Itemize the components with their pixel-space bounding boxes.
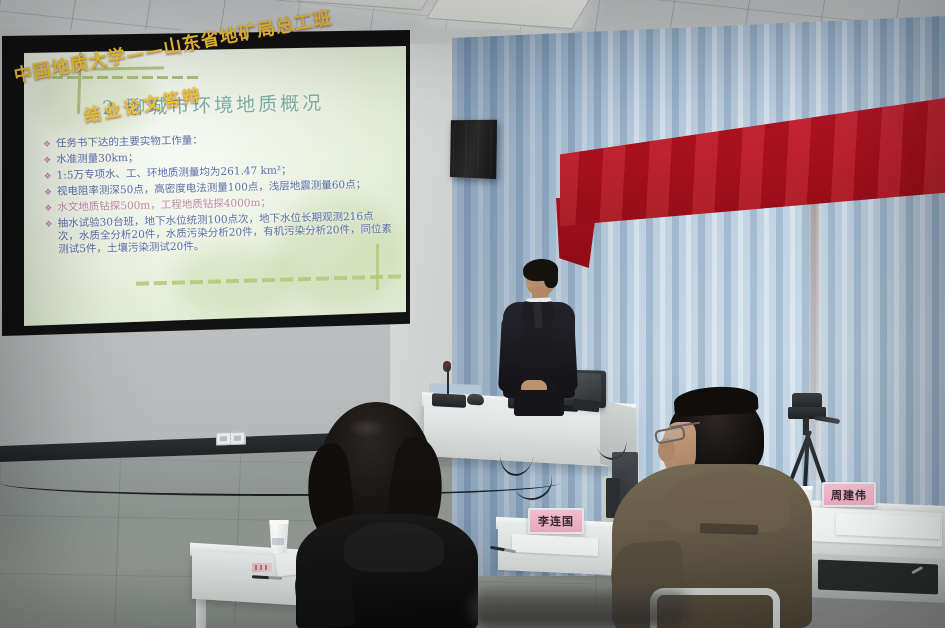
documents-sheet <box>836 513 940 540</box>
woman-hair-highlight <box>348 418 386 438</box>
presenter-arm-right <box>552 313 578 392</box>
presenter-legs <box>514 390 564 416</box>
slide-bullet-list: ❖ 任务书下达的主要实物工作量： ❖ 水准测量30km； ❖ 1:5万专项水、工… <box>43 130 396 259</box>
projection-screen: 2 聊城市环境地质概况 ❖ 任务书下达的主要实物工作量： ❖ 水准测量30km；… <box>24 46 406 326</box>
presentation-room-photo: 2 聊城市环境地质概况 ❖ 任务书下达的主要实物工作量： ❖ 水准测量30km；… <box>0 0 945 628</box>
presenter-person <box>492 262 584 410</box>
slide-bullet-text: 任务书下达的主要实物工作量： <box>56 134 203 150</box>
name-plate: 周建伟 <box>822 482 876 507</box>
bullet-diamond-icon: ❖ <box>43 138 51 152</box>
slide-bullet-text: 水文地质钻探500m，工程地质钻探4000m； <box>57 197 271 215</box>
slide-bullet-item: ❖ 抽水试验30台班，地下水位统测100点次，地下水位长期观测216点次，水质全… <box>44 210 395 257</box>
man-shoulders <box>666 470 790 532</box>
bullet-diamond-icon: ❖ <box>43 170 51 184</box>
name-plate-text: 周建伟 <box>831 487 867 503</box>
sticky-note <box>252 563 272 572</box>
man-jacket-seam <box>700 523 758 535</box>
slide-bullet-text: 水准测量30km； <box>56 152 138 167</box>
left-desk-leg <box>196 596 206 628</box>
woman-shoulders <box>344 522 444 572</box>
presenter-hair-side <box>544 266 558 288</box>
bullet-diamond-icon: ❖ <box>44 202 52 216</box>
bullet-diamond-icon: ❖ <box>44 186 52 200</box>
name-plate: 李连国 <box>528 508 584 534</box>
presenter-tie <box>533 302 543 328</box>
foreground-blur <box>470 590 690 628</box>
slide-bullet-text: 1:5万专项水、工、环地质测量均为261.47 km²； <box>56 164 291 182</box>
name-plate-text: 李连国 <box>538 513 574 529</box>
right-desk-opening <box>818 559 938 594</box>
audience-woman <box>282 402 482 628</box>
bullet-diamond-icon: ❖ <box>44 218 52 232</box>
wall-speaker <box>450 120 497 179</box>
microphone-gooseneck <box>447 367 449 397</box>
slide-bullet-text: 抽水试验30台班，地下水位统测100点次，地下水位长期观测216点次，水质全分析… <box>58 210 396 257</box>
wall-socket <box>216 431 246 445</box>
presenter-arm-left <box>498 313 524 392</box>
woman-arm <box>293 559 356 628</box>
bullet-diamond-icon: ❖ <box>43 154 51 168</box>
